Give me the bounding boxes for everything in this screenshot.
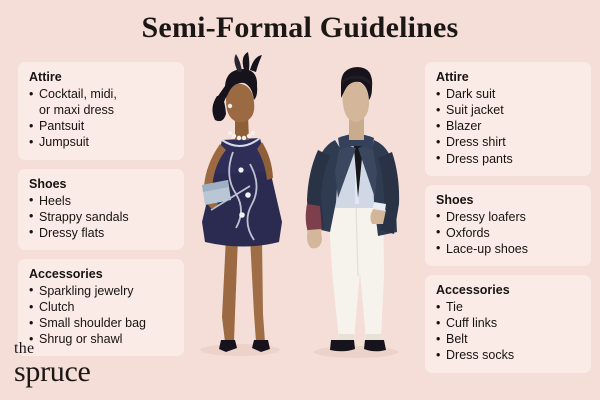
list-item: Heels bbox=[29, 193, 174, 209]
card-item-list: Tie Cuff links Belt Dress socks bbox=[436, 299, 581, 364]
list-item: Lace-up shoes bbox=[436, 241, 581, 257]
list-item: Jumpsuit bbox=[29, 134, 174, 150]
semi-formal-outfit-illustration bbox=[178, 52, 428, 382]
the-spruce-logo: the spruce bbox=[14, 341, 91, 386]
list-item: Cocktail, midi, bbox=[29, 86, 174, 102]
card-womens-attire: Attire Cocktail, midi, or maxi dress Pan… bbox=[18, 62, 184, 160]
card-item-list: Dark suit Suit jacket Blazer Dress shirt… bbox=[436, 86, 581, 167]
list-item: Cuff links bbox=[436, 315, 581, 331]
list-item: Dark suit bbox=[436, 86, 581, 102]
card-mens-shoes: Shoes Dressy loafers Oxfords Lace-up sho… bbox=[425, 185, 591, 266]
card-heading: Attire bbox=[436, 69, 581, 85]
list-item: Tie bbox=[436, 299, 581, 315]
list-item: Oxfords bbox=[436, 225, 581, 241]
card-mens-accessories: Accessories Tie Cuff links Belt Dress so… bbox=[425, 275, 591, 373]
page-title: Semi-Formal Guidelines bbox=[0, 11, 600, 45]
card-heading: Accessories bbox=[436, 282, 581, 298]
list-item: Dress shirt bbox=[436, 134, 581, 150]
list-item: Clutch bbox=[29, 299, 174, 315]
card-item-list: Heels Strappy sandals Dressy flats bbox=[29, 193, 174, 241]
list-item: Dress socks bbox=[436, 347, 581, 363]
woman-left-leg bbox=[222, 237, 238, 342]
list-item: Belt bbox=[436, 331, 581, 347]
woman-figure bbox=[200, 52, 282, 356]
woman-earring bbox=[228, 104, 232, 108]
card-heading: Accessories bbox=[29, 266, 174, 282]
man-right-shoe bbox=[364, 340, 386, 351]
womens-guidelines-column: Attire Cocktail, midi, or maxi dress Pan… bbox=[18, 62, 184, 365]
card-heading: Shoes bbox=[436, 192, 581, 208]
logo-line-spruce: spruce bbox=[14, 358, 91, 387]
list-item: Sparkling jewelry bbox=[29, 283, 174, 299]
woman-fascinator bbox=[234, 52, 262, 72]
list-item: Small shoulder bag bbox=[29, 315, 174, 331]
man-left-hand bbox=[307, 229, 322, 248]
card-heading: Attire bbox=[29, 69, 174, 85]
list-item-continuation: or maxi dress bbox=[29, 102, 174, 118]
list-item: Pantsuit bbox=[29, 118, 174, 134]
semi-formal-guidelines-infographic: Semi-Formal Guidelines Attire Cocktail, … bbox=[0, 0, 600, 400]
list-item: Dressy flats bbox=[29, 225, 174, 241]
list-item: Blazer bbox=[436, 118, 581, 134]
list-item: Dressy loafers bbox=[436, 209, 581, 225]
list-item: Strappy sandals bbox=[29, 209, 174, 225]
card-item-list: Cocktail, midi, or maxi dress Pantsuit J… bbox=[29, 86, 174, 151]
list-item: Dress pants bbox=[436, 151, 581, 167]
woman-right-leg bbox=[250, 237, 265, 342]
card-womens-shoes: Shoes Heels Strappy sandals Dressy flats bbox=[18, 169, 184, 250]
list-item: Suit jacket bbox=[436, 102, 581, 118]
card-item-list: Dressy loafers Oxfords Lace-up shoes bbox=[436, 209, 581, 257]
man-figure bbox=[306, 67, 399, 358]
card-mens-attire: Attire Dark suit Suit jacket Blazer Dres… bbox=[425, 62, 591, 176]
card-item-list: Sparkling jewelry Clutch Small shoulder … bbox=[29, 283, 174, 348]
card-heading: Shoes bbox=[29, 176, 174, 192]
man-sleeve-accent bbox=[306, 204, 322, 232]
mens-guidelines-column: Attire Dark suit Suit jacket Blazer Dres… bbox=[425, 62, 591, 382]
man-left-shoe bbox=[330, 340, 355, 351]
